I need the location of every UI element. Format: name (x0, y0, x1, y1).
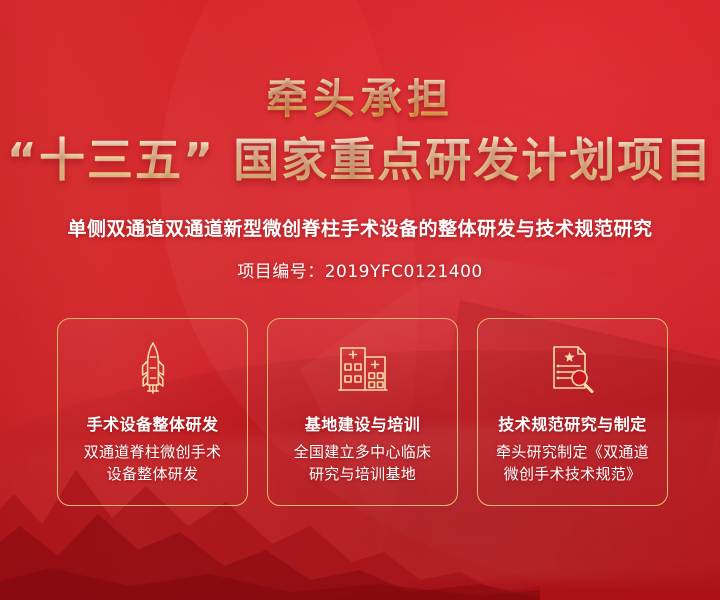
project-number: 项目编号：2019YFC0121400 (0, 257, 720, 282)
poster-header: 牵头承担 “十三五” 国家重点研发计划项目 单侧双通道双通道新型微创脊柱手术设备… (0, 0, 720, 282)
poster-root: 牵头承担 “十三五” 国家重点研发计划项目 单侧双通道双通道新型微创脊柱手术设备… (0, 0, 720, 600)
rocket-icon (133, 341, 173, 395)
feature-card-body-line: 研究与培训基地 (294, 464, 432, 486)
page-title-line-1: 牵头承担 (0, 78, 720, 120)
feature-card-title: 基地建设与培训 (305, 411, 421, 435)
feature-card-body-line: 牵头研究制定《双通道 (496, 442, 649, 464)
feature-card-title: 技术规范研究与制定 (498, 411, 647, 435)
feature-card-base-training[interactable]: 基地建设与培训 全国建立多中心临床 研究与培训基地 (267, 318, 458, 506)
feature-card-body-line: 微创手术技术规范》 (496, 464, 649, 486)
feature-card-body: 双通道脊柱微创手术 设备整体研发 (84, 442, 222, 486)
feature-card-title: 手术设备整体研发 (86, 411, 218, 435)
document-magnifier-icon (549, 341, 597, 395)
feature-card-equipment-rd[interactable]: 手术设备整体研发 双通道脊柱微创手术 设备整体研发 (57, 318, 248, 506)
feature-card-list: 手术设备整体研发 双通道脊柱微创手术 设备整体研发 (57, 318, 668, 506)
page-title-line-2: “十三五” 国家重点研发计划项目 (0, 136, 720, 186)
feature-card-body-line: 双通道脊柱微创手术 (84, 442, 222, 464)
page-subtitle: 单侧双通道双通道新型微创脊柱手术设备的整体研发与技术规范研究 (0, 214, 720, 241)
feature-card-body: 牵头研究制定《双通道 微创手术技术规范》 (496, 442, 649, 486)
feature-card-body-line: 设备整体研发 (84, 464, 222, 486)
feature-card-tech-standard[interactable]: 技术规范研究与制定 牵头研究制定《双通道 微创手术技术规范》 (477, 318, 668, 506)
hospital-building-icon (338, 341, 388, 395)
feature-card-body: 全国建立多中心临床 研究与培训基地 (294, 442, 432, 486)
feature-card-body-line: 全国建立多中心临床 (294, 442, 432, 464)
